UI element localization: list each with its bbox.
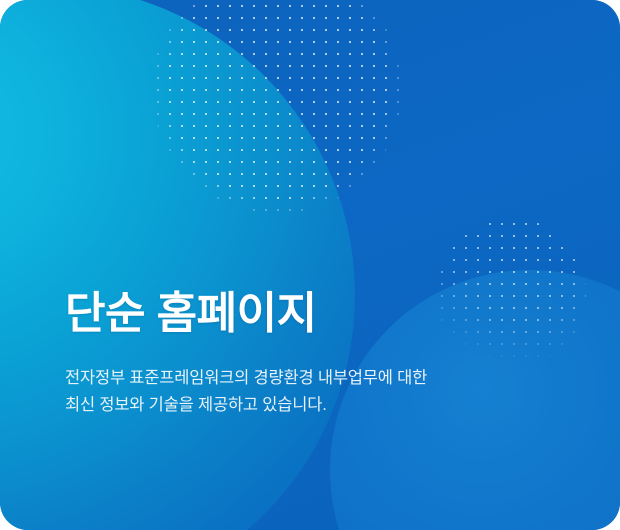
hero-subtitle: 전자정부 표준프레임워크의 경량환경 내부업무에 대한 최신 정보와 기술을 제… bbox=[65, 365, 565, 419]
hero-subtitle-line-2: 최신 정보와 기술을 제공하고 있습니다. bbox=[65, 392, 565, 419]
page-title: 단순 홈페이지 bbox=[65, 288, 565, 339]
hero-background-wash bbox=[0, 0, 620, 530]
hero-subtitle-line-1: 전자정부 표준프레임워크의 경량환경 내부업무에 대한 bbox=[65, 365, 565, 392]
hero-copy-block: 단순 홈페이지 전자정부 표준프레임워크의 경량환경 내부업무에 대한 최신 정… bbox=[65, 288, 565, 419]
hero-banner-card: 단순 홈페이지 전자정부 표준프레임워크의 경량환경 내부업무에 대한 최신 정… bbox=[0, 0, 620, 530]
